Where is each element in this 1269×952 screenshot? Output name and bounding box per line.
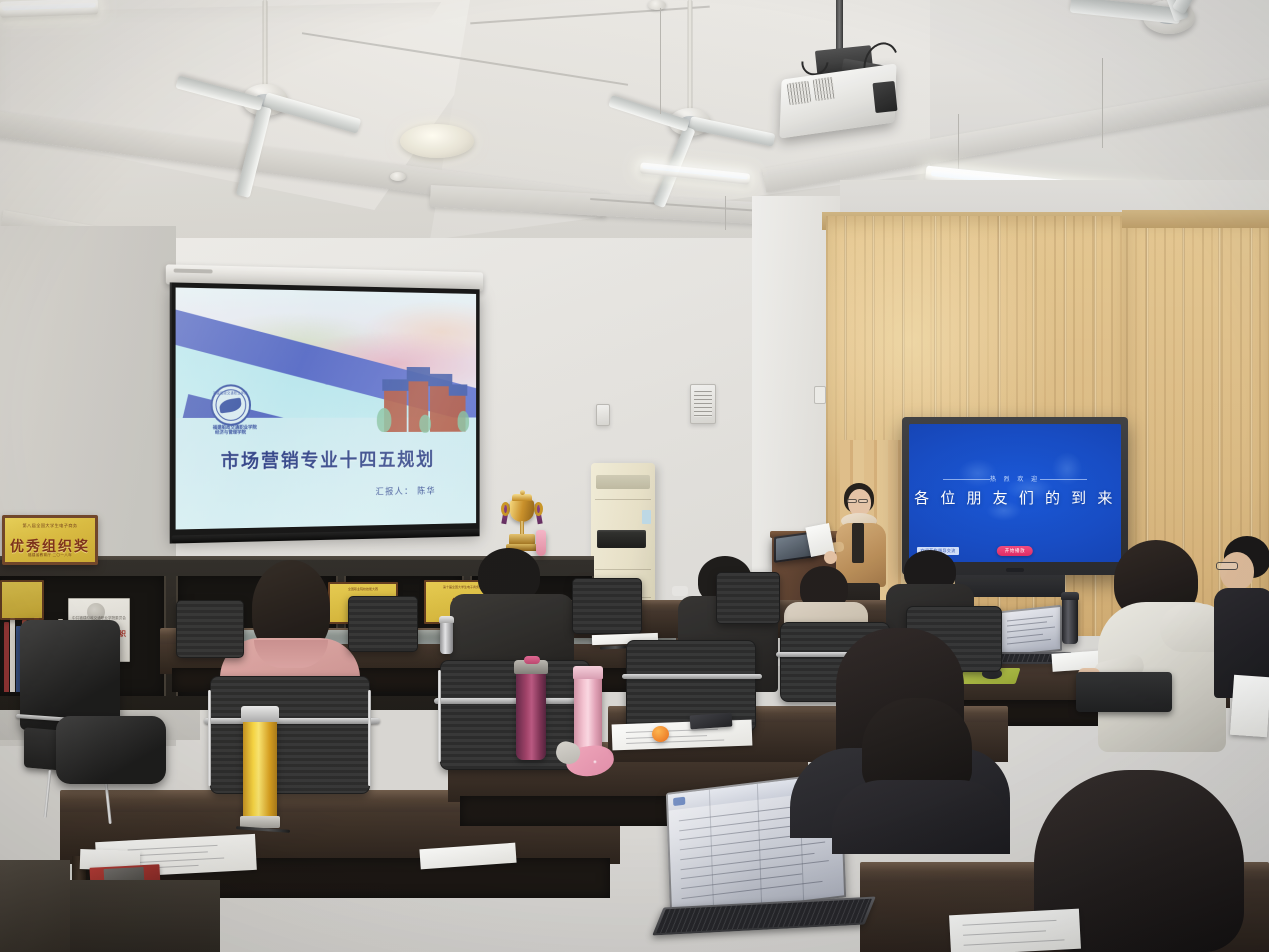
- wall-switch[interactable]: [814, 386, 826, 404]
- logo-dept-name: 经济与管理学院: [213, 429, 248, 436]
- light-hanger: [1102, 58, 1103, 148]
- bottle-purple-latch: [524, 656, 540, 664]
- trophy-lid: [512, 494, 532, 501]
- paper-line: [128, 857, 224, 863]
- presenter-glasses-icon: [847, 499, 857, 503]
- attendee-top: [832, 780, 1010, 854]
- paper-line: [626, 740, 724, 744]
- bottle-purple: [516, 668, 546, 760]
- projector-lens-housing: [872, 81, 897, 113]
- screen-frame: 福建船政交通职业学院 福建船政交通职业学院 经济与管理学院 市场营销专业十四五规…: [172, 282, 480, 538]
- tree: [457, 411, 469, 431]
- trophy: [505, 492, 539, 554]
- slide-campus-illustration: [381, 353, 468, 432]
- ac-seam: [595, 499, 651, 500]
- ceiling-fan-right: [1020, 0, 1260, 120]
- presenter-glasses-icon: [858, 499, 868, 503]
- ceiling-fan-left: [160, 0, 370, 180]
- orange-fruit: [652, 726, 669, 742]
- doc-line: [1007, 622, 1048, 627]
- thermos-yellow-cap: [241, 706, 279, 722]
- paper-line: [963, 920, 1057, 926]
- chair-backrest: [716, 572, 780, 624]
- papers-far-right: [1230, 675, 1269, 737]
- papers-front-right: [949, 909, 1081, 952]
- projection-screen: 福建船政交通职业学院 福建船政交通职业学院 经济与管理学院 市场营销专业十四五规…: [152, 264, 483, 554]
- slide-presenter: 汇报人： 陈华: [376, 484, 436, 497]
- tree: [377, 408, 391, 432]
- trophy-handle: [501, 502, 510, 516]
- tv-play-button[interactable]: 开始播放: [997, 546, 1033, 556]
- logo-arc-text: 福建船政交通职业学院: [212, 390, 249, 395]
- presenter-inner-top: [852, 523, 864, 563]
- thermos-pink-cap: [573, 666, 603, 679]
- smoke-detector-icon: [390, 172, 406, 181]
- building-roof: [407, 367, 430, 381]
- chair-backrest: [572, 578, 642, 634]
- chair-backrest: [348, 596, 418, 652]
- ac-top-grille: [596, 475, 650, 489]
- building-roof: [449, 385, 468, 396]
- doc-line: [1007, 615, 1053, 621]
- tv-headline: 各 位 朋 友 们 的 到 来: [909, 487, 1121, 508]
- mobile-phone[interactable]: [690, 713, 733, 730]
- fan-downrod: [263, 0, 268, 86]
- tv-screen: 热 烈 欢 迎 各 位 朋 友 们 的 到 来 欢迎莅临指导交流 开始播放: [909, 424, 1121, 562]
- trophy-stem: [520, 521, 524, 535]
- fan-blade: [689, 116, 776, 147]
- trophy-handle: [534, 502, 543, 516]
- light-tube: [2, 2, 96, 11]
- building-roof: [382, 379, 408, 390]
- ac-control-panel[interactable]: [642, 510, 651, 524]
- attendee-glasses-icon: [672, 586, 688, 596]
- chair-backrest: [20, 620, 120, 730]
- control-box-grille: [694, 391, 711, 417]
- smoke-detector-icon: [648, 0, 666, 10]
- chair-armrest: [622, 674, 762, 679]
- person-attendee-front-left: [832, 698, 1012, 848]
- logo-ring: 福建船政交通职业学院: [210, 384, 250, 426]
- book: [4, 622, 9, 692]
- tv-camera-bar: [1006, 568, 1024, 572]
- chair-frame: [368, 690, 371, 786]
- projector-vent: [813, 77, 836, 102]
- floor-left: [0, 860, 70, 952]
- logo-emblem-icon: [219, 398, 242, 414]
- attendee-glasses-icon: [1216, 562, 1238, 570]
- award-plaque-shelf-3: [0, 580, 44, 620]
- book: [10, 618, 15, 692]
- trophy-knob: [520, 490, 525, 495]
- thermos-steel-back: [440, 620, 453, 654]
- paper-line: [128, 844, 218, 850]
- chair-armrest: [204, 718, 380, 724]
- presentation-slide: 福建船政交通职业学院 福建船政交通职业学院 经济与管理学院 市场营销专业十四五规…: [176, 288, 477, 530]
- fan-downrod: [688, 0, 693, 110]
- attendee-head: [1220, 552, 1254, 590]
- chair-frame: [208, 690, 211, 786]
- chair-frame: [438, 670, 441, 762]
- chair-backrest: [56, 716, 166, 784]
- projector-vent: [787, 81, 812, 106]
- light-hanger: [660, 8, 661, 114]
- ac-seam: [595, 569, 651, 570]
- ceiling-projector: [778, 46, 938, 146]
- chair-backrest: [176, 600, 244, 658]
- tv-eyebrow-text: 热 烈 欢 迎: [909, 474, 1121, 483]
- institution-logo: 福建船政交通职业学院 福建船政交通职业学院 经济与管理学院: [210, 384, 250, 426]
- wall-outlet-box[interactable]: [596, 404, 610, 426]
- paper-line: [963, 930, 1046, 935]
- projector-pole: [836, 0, 843, 50]
- light-hanger: [725, 196, 726, 230]
- chair-post: [43, 770, 51, 818]
- ceiling-lamp: [400, 124, 474, 158]
- thermos-yellow: [243, 718, 277, 824]
- chair-backrest: [210, 676, 370, 794]
- presenter-hand: [824, 551, 837, 564]
- slide-title: 市场营销专业十四五规划: [176, 445, 477, 474]
- award-plaque-main: 第八届全国大学生电子商务 优秀组织奖 福建省教育厅 二〇一八年: [2, 515, 98, 565]
- ac-air-vent: [597, 530, 646, 548]
- chair-seat: [1076, 672, 1172, 712]
- paper-line: [964, 939, 1065, 945]
- trophy-cup: [510, 500, 534, 522]
- conference-room-scene: 福建船政交通职业学院 福建船政交通职业学院 经济与管理学院 市场营销专业十四五规…: [0, 0, 1269, 952]
- thermos-black-right: [1062, 596, 1078, 644]
- thermos-cap: [1061, 592, 1079, 600]
- curtain-rail-right: [1122, 210, 1269, 228]
- plaque-footer: 福建省教育厅 二〇一八年: [5, 553, 95, 558]
- plaque-heading: 第八届全国大学生电子商务: [5, 523, 95, 529]
- thermos-cap: [439, 616, 454, 623]
- paper-line: [626, 729, 718, 733]
- building-block: [430, 384, 451, 431]
- wall-control-box[interactable]: [690, 384, 716, 424]
